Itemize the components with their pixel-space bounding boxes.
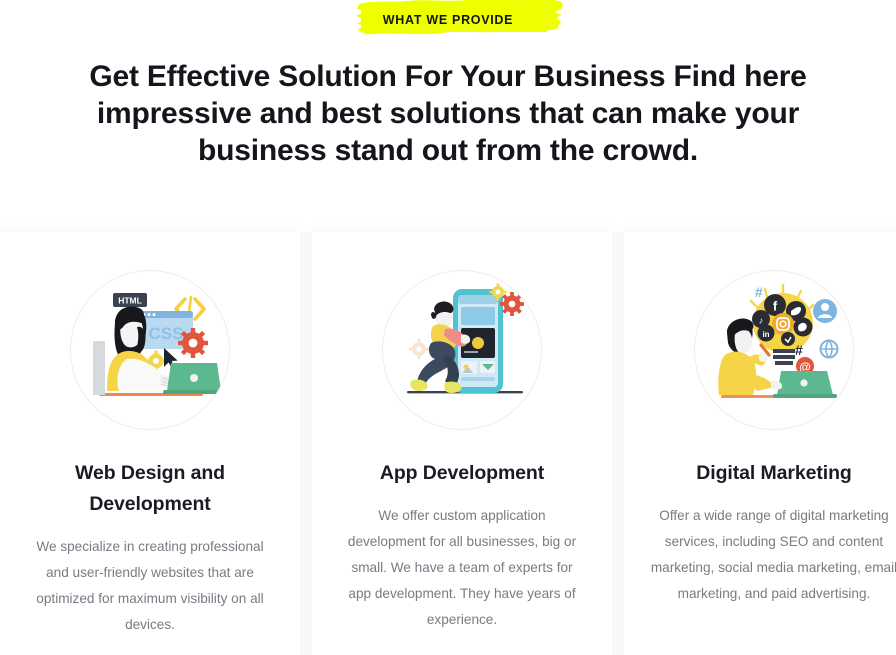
service-cards-row: HTML CSS bbox=[0, 232, 896, 655]
service-card-digital-marketing[interactable]: f ♪ in # # bbox=[624, 232, 896, 655]
svg-text:HTML: HTML bbox=[118, 296, 142, 306]
card-title: Digital Marketing bbox=[624, 458, 896, 489]
section-badge: WHAT WE PROVIDE bbox=[0, 0, 896, 40]
card-title: Web Design and Development bbox=[0, 458, 300, 520]
service-card-web-design[interactable]: HTML CSS bbox=[0, 232, 300, 655]
card-title: App Development bbox=[312, 458, 612, 489]
card-description: Offer a wide range of digital marketing … bbox=[624, 503, 896, 607]
app-development-illustration-icon bbox=[382, 270, 542, 430]
svg-text:#: # bbox=[795, 342, 803, 358]
card-gutter-2 bbox=[612, 232, 624, 655]
card-gutter-1 bbox=[300, 232, 312, 655]
card-description: We specialize in creating professional a… bbox=[0, 534, 300, 638]
woman-coding-illustration-icon: HTML CSS bbox=[70, 270, 230, 430]
section-heading: Get Effective Solution For Your Business… bbox=[68, 58, 828, 169]
social-media-lightbulb-illustration-icon: f ♪ in # # bbox=[694, 270, 854, 430]
svg-text:in: in bbox=[762, 330, 769, 339]
svg-text:CSS: CSS bbox=[149, 324, 184, 343]
badge-label: WHAT WE PROVIDE bbox=[383, 13, 513, 27]
services-section: WHAT WE PROVIDE Get Effective Solution F… bbox=[0, 0, 896, 655]
svg-text:f: f bbox=[773, 299, 778, 314]
card-description: We offer custom application development … bbox=[312, 503, 612, 633]
svg-text:♪: ♪ bbox=[759, 316, 764, 326]
service-card-app-development[interactable]: App Development We offer custom applicat… bbox=[312, 232, 612, 655]
svg-text:#: # bbox=[755, 284, 763, 300]
